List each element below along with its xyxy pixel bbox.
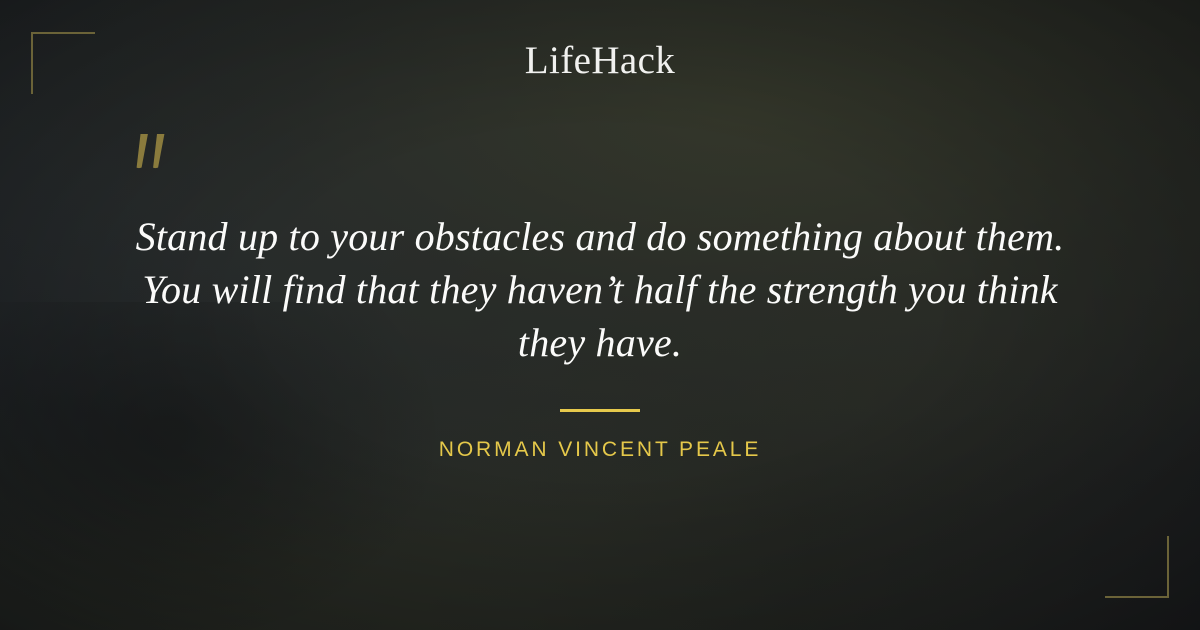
quote-line: Stand up to your obstacles and do someth… xyxy=(110,210,1090,263)
quote-author: NORMAN VINCENT PEALE xyxy=(0,438,1200,462)
quote-card: LifeHack Stand up to your obstacles and … xyxy=(0,0,1200,630)
quote-mark-icon xyxy=(126,128,196,198)
attribution-divider xyxy=(560,409,640,412)
lifehack-logo: LifeHack xyxy=(0,39,1200,83)
quote-line: You will find that they haven’t half the… xyxy=(110,263,1090,316)
quote-line: they have. xyxy=(110,316,1090,369)
quote-text: Stand up to your obstacles and do someth… xyxy=(110,210,1090,369)
